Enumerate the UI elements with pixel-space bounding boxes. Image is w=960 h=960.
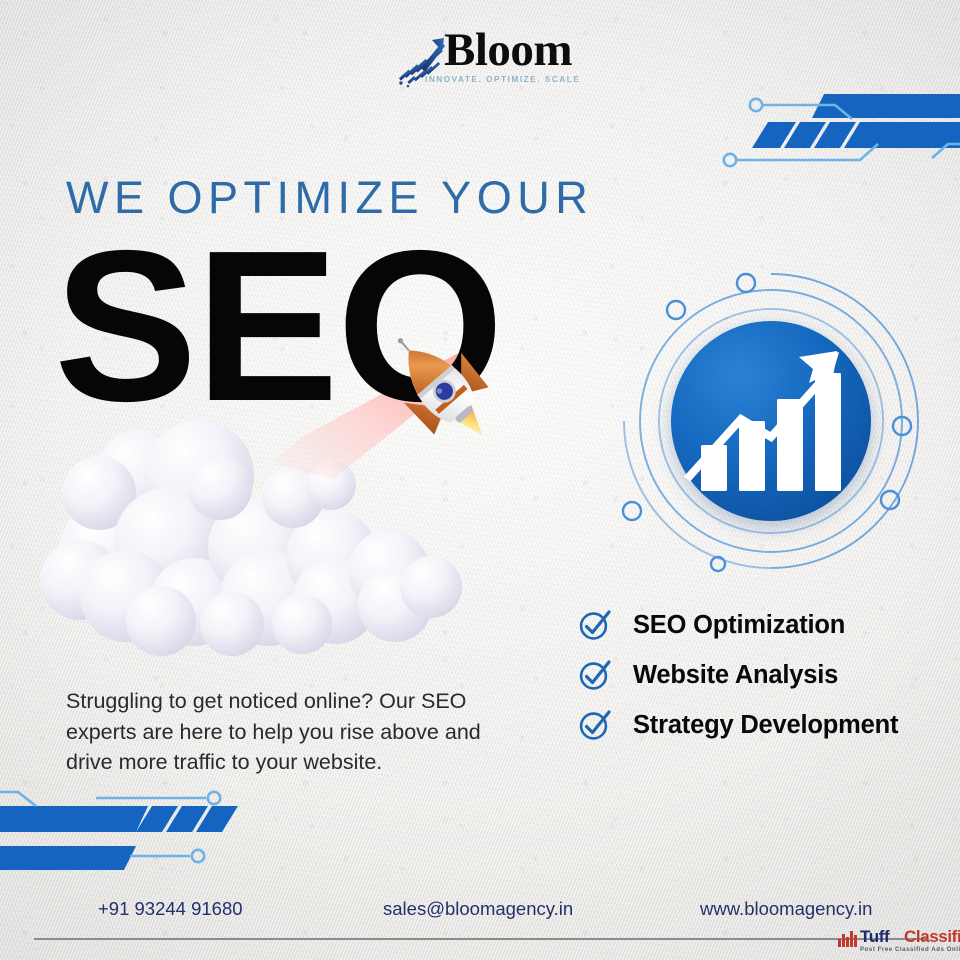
badge-circle bbox=[671, 321, 871, 521]
tuffclassified-watermark[interactable]: Tuff Classified Post Free Classified Ads… bbox=[838, 926, 956, 956]
feature-label: Website Analysis bbox=[633, 661, 838, 690]
brand-tagline: INNOVATE. OPTIMIZE. SCALE bbox=[425, 75, 580, 84]
footer-website[interactable]: www.bloomagency.in bbox=[700, 898, 872, 920]
check-circle-icon bbox=[578, 658, 612, 692]
check-circle-icon bbox=[578, 708, 612, 742]
description-paragraph: Struggling to get noticed online? Our SE… bbox=[66, 686, 496, 778]
watermark-subtitle: Post Free Classified Ads Online bbox=[860, 946, 960, 953]
watermark-part2: Classified bbox=[904, 927, 960, 947]
tech-decoration-top-right bbox=[700, 86, 960, 186]
footer-phone[interactable]: +91 93244 91680 bbox=[98, 898, 243, 920]
footer-contact-bar: +91 93244 91680 sales@bloomagency.in www… bbox=[0, 898, 960, 932]
growth-badge bbox=[618, 268, 924, 574]
feature-item[interactable]: Strategy Development bbox=[578, 700, 938, 750]
feature-list: SEO Optimization Website Analysis Strate… bbox=[578, 600, 938, 750]
tech-decoration-bottom-left bbox=[0, 778, 260, 878]
bar-chart-icon bbox=[838, 930, 858, 947]
watermark-part1: Tuff bbox=[860, 927, 889, 947]
brand-name: Bloom bbox=[444, 27, 572, 74]
check-circle-icon bbox=[578, 608, 612, 642]
feature-label: Strategy Development bbox=[633, 711, 898, 740]
brand-logo: Bloom INNOVATE. OPTIMIZE. SCALE bbox=[392, 30, 592, 98]
seo-promo-poster: Bloom INNOVATE. OPTIMIZE. SCALE WE bbox=[0, 0, 960, 960]
feature-label: SEO Optimization bbox=[633, 611, 845, 640]
footer-email[interactable]: sales@bloomagency.in bbox=[383, 898, 573, 920]
feature-item[interactable]: Website Analysis bbox=[578, 650, 938, 700]
rocket-icon bbox=[385, 333, 505, 451]
footer-divider bbox=[34, 938, 926, 940]
feature-item[interactable]: SEO Optimization bbox=[578, 600, 938, 650]
